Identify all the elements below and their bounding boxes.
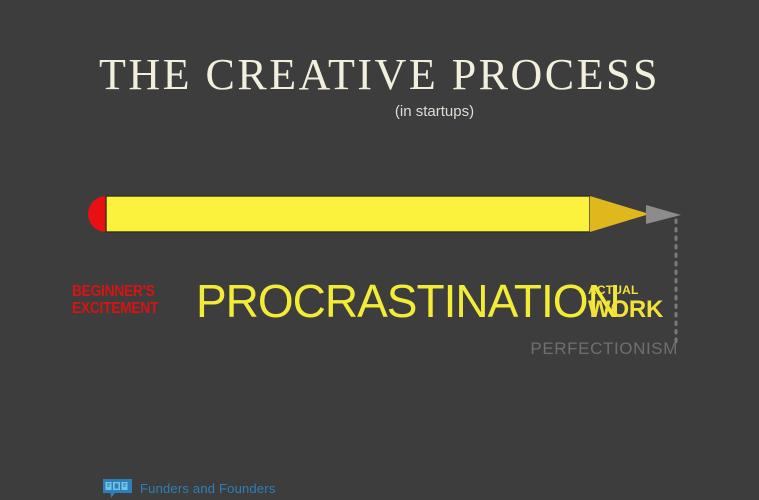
poster-canvas: THE CREATIVE PROCESS (in startups) BEGIN… [0,0,759,500]
label-perfectionism: PERFECTIONISM [400,339,678,359]
label-actual-work: ACTUAL WORK [588,284,663,323]
label-beginners-line1: BEGINNER'S [72,283,168,300]
pencil-graphite-tip-icon [646,205,681,224]
page-title: THE CREATIVE PROCESS [0,50,759,100]
pencil-eraser-icon [88,196,106,232]
label-procrastination: PROCRASTINATION [196,278,620,324]
label-beginners-excitement: BEGINNER'S EXCITEMENT [72,283,168,317]
page-subtitle: (in startups) [0,103,759,120]
funders-and-founders-logo-icon [103,479,132,498]
pencil-barrel [106,196,590,232]
label-work: WORK [588,297,663,323]
footer-branding[interactable]: Funders and Founders [103,479,276,498]
pencil-wood-cone [590,196,646,232]
pencil-eraser-cap-icon [97,196,106,232]
label-beginners-line2: EXCITEMENT [72,300,168,317]
footer-brand-text: Funders and Founders [140,481,276,496]
